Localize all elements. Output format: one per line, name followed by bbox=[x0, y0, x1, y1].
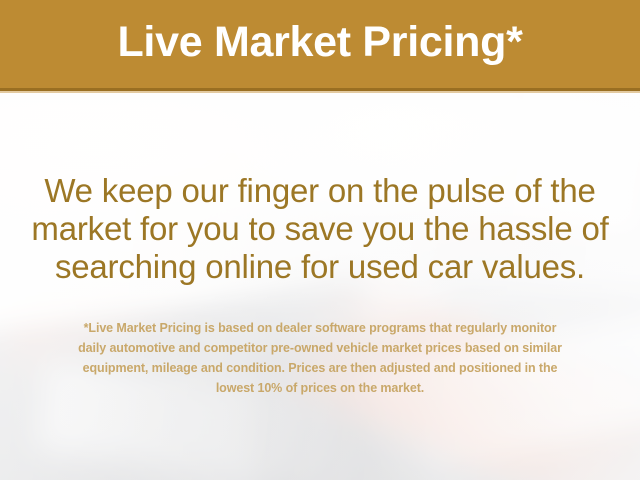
disclaimer-text: *Live Market Pricing is based on dealer … bbox=[0, 318, 640, 398]
disclaimer-line-3: equipment, mileage and condition. Prices… bbox=[0, 358, 640, 378]
page-title: Live Market Pricing* bbox=[117, 21, 522, 67]
banner-divider-light bbox=[0, 91, 640, 93]
headline-text: We keep our finger on the pulse of the m… bbox=[0, 172, 640, 286]
live-market-pricing-slide: Live Market Pricing* We keep our finger … bbox=[0, 0, 640, 480]
headline-line-3: searching online for used car values. bbox=[0, 248, 640, 286]
headline-line-1: We keep our finger on the pulse of the bbox=[0, 172, 640, 210]
disclaimer-line-4: lowest 10% of prices on the market. bbox=[0, 378, 640, 398]
disclaimer-line-2: daily automotive and competitor pre-owne… bbox=[0, 338, 640, 358]
disclaimer-line-1: *Live Market Pricing is based on dealer … bbox=[0, 318, 640, 338]
headline-line-2: market for you to save you the hassle of bbox=[0, 210, 640, 248]
header-banner: Live Market Pricing* bbox=[0, 0, 640, 88]
